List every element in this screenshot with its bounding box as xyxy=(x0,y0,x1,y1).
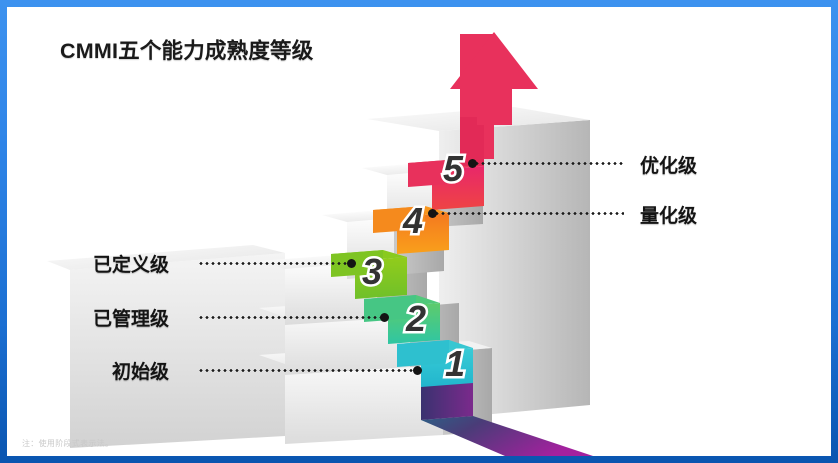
back-block xyxy=(367,107,590,419)
footnote: 注：使用阶段式表示法。 xyxy=(22,438,113,449)
leader-dot-1 xyxy=(413,366,422,375)
color-ribbon xyxy=(331,34,593,456)
leader-line-3 xyxy=(198,262,350,265)
leader-line-1 xyxy=(198,369,416,372)
slide-root: CMMI五个能力成熟度等级 优化级 量化级 已定义级 已管理级 初始级 1 2 … xyxy=(0,0,838,463)
step-number-2: 2 xyxy=(405,298,426,339)
leader-dot-3 xyxy=(347,259,356,268)
step-number-4: 4 xyxy=(402,200,423,241)
leader-dot-4 xyxy=(428,209,437,218)
up-arrow-icon xyxy=(450,32,538,125)
stage-label-2: 已管理级 xyxy=(93,304,169,331)
step-number-1: 1 xyxy=(445,343,465,384)
leader-dot-5 xyxy=(468,159,477,168)
slide-canvas: CMMI五个能力成熟度等级 优化级 量化级 已定义级 已管理级 初始级 1 2 … xyxy=(7,7,831,456)
step-4 xyxy=(322,211,444,279)
leader-line-4 xyxy=(434,212,624,215)
stage-label-5: 优化级 xyxy=(640,151,697,178)
step-2 xyxy=(259,299,459,375)
step-numbers: 1 2 3 4 5 xyxy=(7,7,831,456)
leader-dot-2 xyxy=(380,313,389,322)
page-title: CMMI五个能力成熟度等级 xyxy=(60,34,313,65)
stage-label-4: 量化级 xyxy=(640,201,697,228)
staircase-illustration xyxy=(7,7,831,456)
leader-line-2 xyxy=(198,316,383,319)
stage-label-3: 已定义级 xyxy=(93,250,169,277)
step-5 xyxy=(362,164,483,231)
step-number-5: 5 xyxy=(443,148,464,189)
step-number-3: 3 xyxy=(362,251,382,292)
stage-label-1: 初始级 xyxy=(112,357,169,384)
leader-line-5 xyxy=(474,162,624,165)
step-1 xyxy=(259,341,492,444)
